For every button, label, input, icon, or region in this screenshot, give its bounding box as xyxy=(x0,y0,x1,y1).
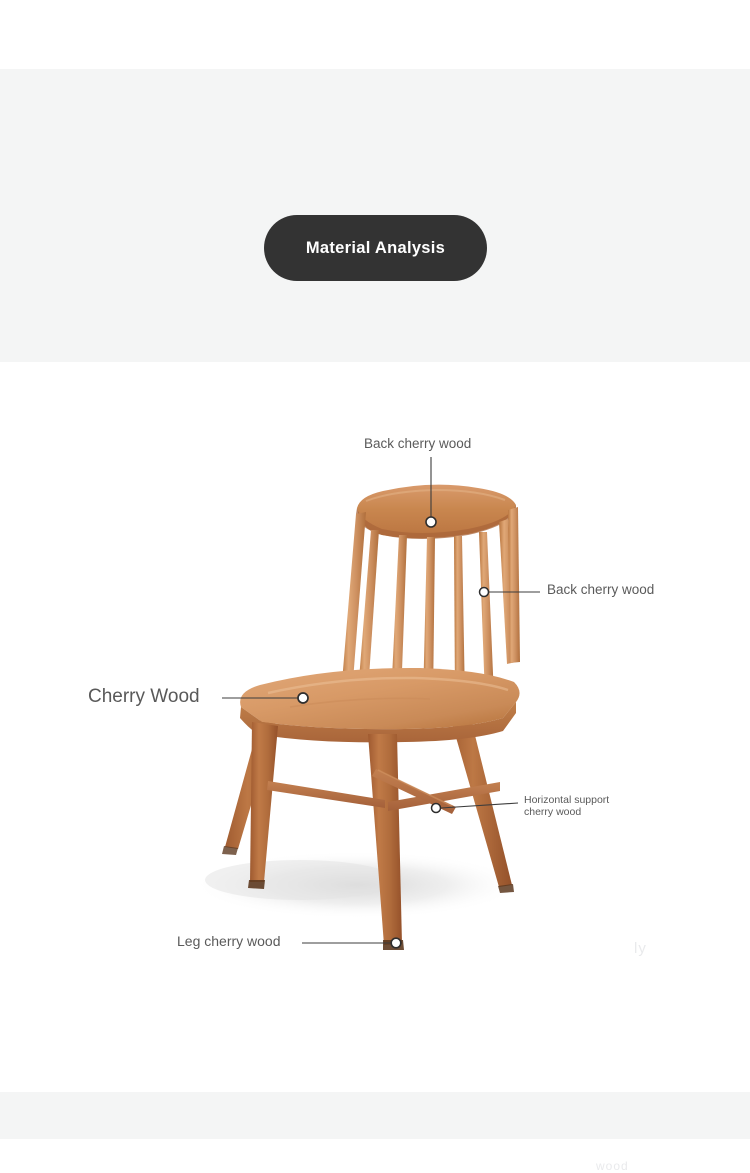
stretcher-left-rail xyxy=(267,781,385,808)
annotation-label-stretcher-line1: Horizontal support xyxy=(524,794,609,806)
annotation-label-back-side: Back cherry wood xyxy=(547,578,667,602)
chair-illustration: ly wood xyxy=(0,362,750,1092)
marker-back-top xyxy=(426,517,436,527)
watermark-ghost-2: wood xyxy=(596,1159,629,1173)
chair-graphic xyxy=(0,362,750,1092)
marker-back-side xyxy=(480,588,489,597)
material-analysis-pill: Material Analysis xyxy=(264,215,487,281)
page-root: Material Analysis xyxy=(0,0,750,1139)
page-title: Material Analysis xyxy=(306,239,445,258)
annotation-label-back-top: Back cherry wood xyxy=(364,436,471,451)
footer-gray-band xyxy=(0,1092,750,1139)
marker-seat xyxy=(298,693,308,703)
top-white-band xyxy=(0,0,750,69)
back-post-right xyxy=(508,507,520,663)
annotation-label-stretcher: Horizontal support cherry wood xyxy=(524,795,654,819)
marker-leg xyxy=(391,938,401,948)
annotation-label-stretcher-line2: cherry wood xyxy=(524,806,581,818)
annotation-label-seat: Cherry Wood xyxy=(88,686,200,708)
marker-stretcher xyxy=(432,804,441,813)
annotation-label-leg: Leg cherry wood xyxy=(177,933,281,949)
spindle-5 xyxy=(479,532,494,698)
